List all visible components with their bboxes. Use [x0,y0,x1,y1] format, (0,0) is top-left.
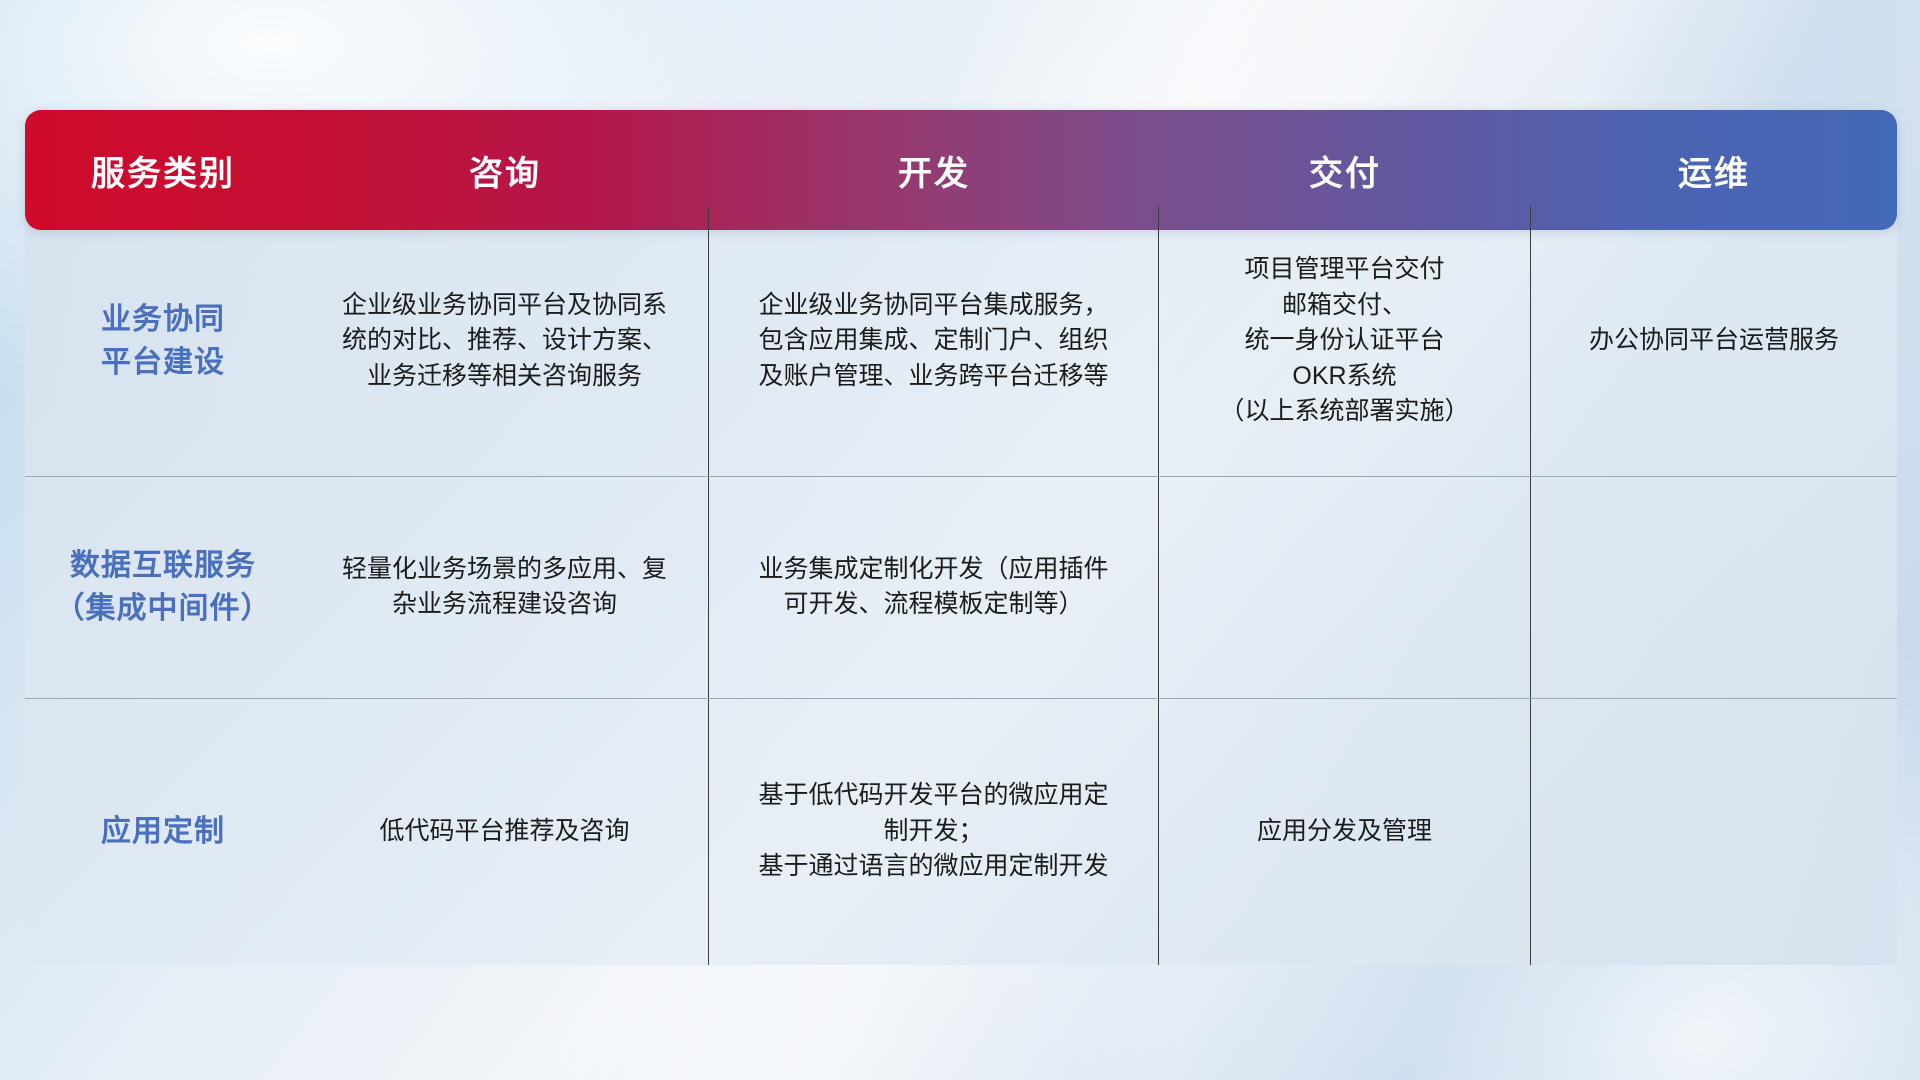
row-label-app-customization: 应用定制 [25,698,301,965]
row-divider-2 [25,698,1897,699]
header-delivery: 交付 [1159,146,1531,195]
cell-operations-r3 [1531,698,1897,965]
table-row: 应用定制 低代码平台推荐及咨询 基于低代码开发平台的微应用定 制开发； 基于通过… [25,698,1897,965]
cell-delivery-r3: 应用分发及管理 [1159,698,1531,965]
row-label-data-interconnect: 数据互联服务 （集成中间件） [25,476,301,698]
cell-development-r3: 基于低代码开发平台的微应用定 制开发； 基于通过语言的微应用定制开发 [709,698,1159,965]
row-divider-1 [25,476,1897,477]
table-rows: 业务协同 平台建设 企业级业务协同平台及协同系 统的对比、推荐、设计方案、 业务… [25,206,1897,965]
header-development: 开发 [709,146,1159,195]
header-service-category: 服务类别 [25,146,301,195]
cell-development-r1: 企业级业务协同平台集成服务， 包含应用集成、定制门户、组织 及账户管理、业务跨平… [709,206,1159,476]
service-matrix-table: 服务类别 咨询 开发 交付 运维 业务协同 平台建设 企业级业务协同平台及协同系… [25,110,1897,965]
cell-development-r2: 业务集成定制化开发（应用插件 可开发、流程模板定制等） [709,476,1159,698]
table-row: 数据互联服务 （集成中间件） 轻量化业务场景的多应用、复 杂业务流程建设咨询 业… [25,476,1897,698]
cell-consulting-r1: 企业级业务协同平台及协同系 统的对比、推荐、设计方案、 业务迁移等相关咨询服务 [301,206,709,476]
cell-delivery-r1: 项目管理平台交付 邮箱交付、 统一身份认证平台 OKR系统 （以上系统部署实施） [1159,206,1531,476]
cell-operations-r2 [1531,476,1897,698]
table-row: 业务协同 平台建设 企业级业务协同平台及协同系 统的对比、推荐、设计方案、 业务… [25,206,1897,476]
slide-canvas: 服务类别 咨询 开发 交付 运维 业务协同 平台建设 企业级业务协同平台及协同系… [0,0,1920,1080]
header-consulting: 咨询 [301,146,709,195]
header-operations: 运维 [1531,146,1897,195]
cell-delivery-r2 [1159,476,1531,698]
cell-operations-r1: 办公协同平台运营服务 [1531,206,1897,476]
cell-consulting-r2: 轻量化业务场景的多应用、复 杂业务流程建设咨询 [301,476,709,698]
cell-consulting-r3: 低代码平台推荐及咨询 [301,698,709,965]
row-label-business-collaboration: 业务协同 平台建设 [25,206,301,476]
